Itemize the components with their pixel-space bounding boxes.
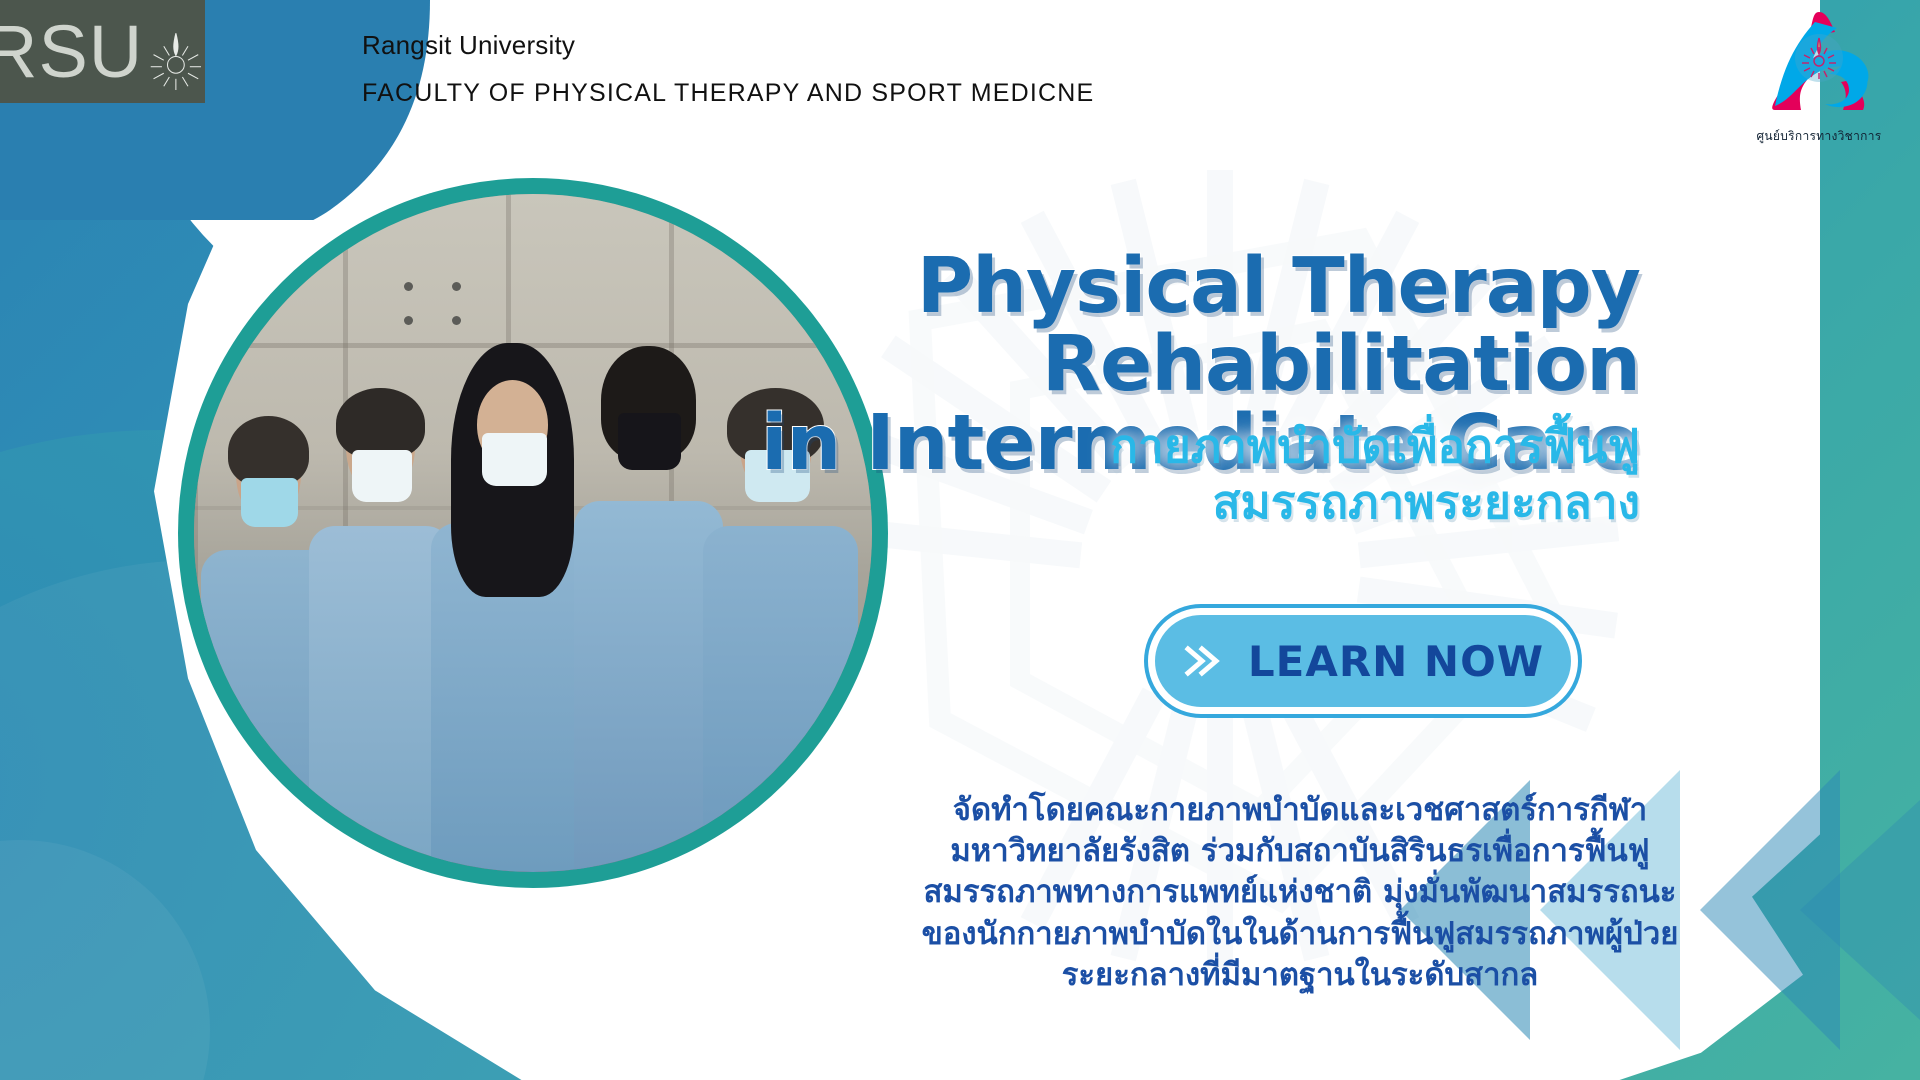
poster-canvas: RSU Rangsit University FACULTY OF PHYSIC…	[0, 0, 1920, 1080]
thai-subtitle-line-2: สมรรถภาพระยะกลาง	[760, 474, 1640, 530]
header-titles: Rangsit University FACULTY OF PHYSICAL T…	[362, 30, 1094, 108]
rsu-logo-text: RSU	[0, 9, 143, 94]
description-paragraph: จัดทำโดยคณะกายภาพบำบัดและเวชศาสตร์การกีฬ…	[820, 790, 1780, 996]
paragraph-line-1: จัดทำโดยคณะกายภาพบำบัดและเวชศาสตร์การกีฬ…	[820, 790, 1780, 831]
title-line-1: Physical Therapy Rehabilitation	[917, 242, 1640, 410]
academic-service-center-logo[interactable]: ศูนย์บริการทางวิชาการ	[1744, 6, 1894, 146]
academic-center-a-mark-icon	[1755, 6, 1883, 126]
paragraph-line-2: มหาวิทยาลัยรังสิต ร่วมกับสถาบันสิรินธรเพ…	[820, 831, 1780, 872]
learn-now-button[interactable]: LEARN NOW	[1148, 608, 1578, 714]
learn-now-button-wrapper: LEARN NOW	[1148, 608, 1578, 714]
double-chevron-right-icon	[1182, 641, 1222, 681]
academic-center-caption: ศูนย์บริการทางวิชาการ	[1744, 127, 1894, 146]
paragraph-line-4: ของนักกายภาพบำบัดในในด้านการฟื้นฟูสมรรถภ…	[820, 914, 1780, 955]
rsu-sun-emblem-icon	[147, 29, 205, 97]
learn-now-label: LEARN NOW	[1248, 637, 1544, 686]
faculty-name: FACULTY OF PHYSICAL THERAPY AND SPORT ME…	[362, 79, 1094, 108]
paragraph-line-5: ระยะกลางที่มีมาตฐานในระดับสากล	[820, 955, 1780, 996]
university-name: Rangsit University	[362, 30, 1094, 61]
thai-subtitle: กายภาพบำบัดเพื่อการฟื้นฟู สมรรถภาพระยะกล…	[760, 418, 1640, 530]
paragraph-line-3: สมรรถภาพทางการแพทย์แห่งชาติ มุ่งมั่นพัฒน…	[820, 872, 1780, 913]
thai-subtitle-line-1: กายภาพบำบัดเพื่อการฟื้นฟู	[760, 418, 1640, 474]
rsu-logo[interactable]: RSU	[0, 0, 205, 103]
